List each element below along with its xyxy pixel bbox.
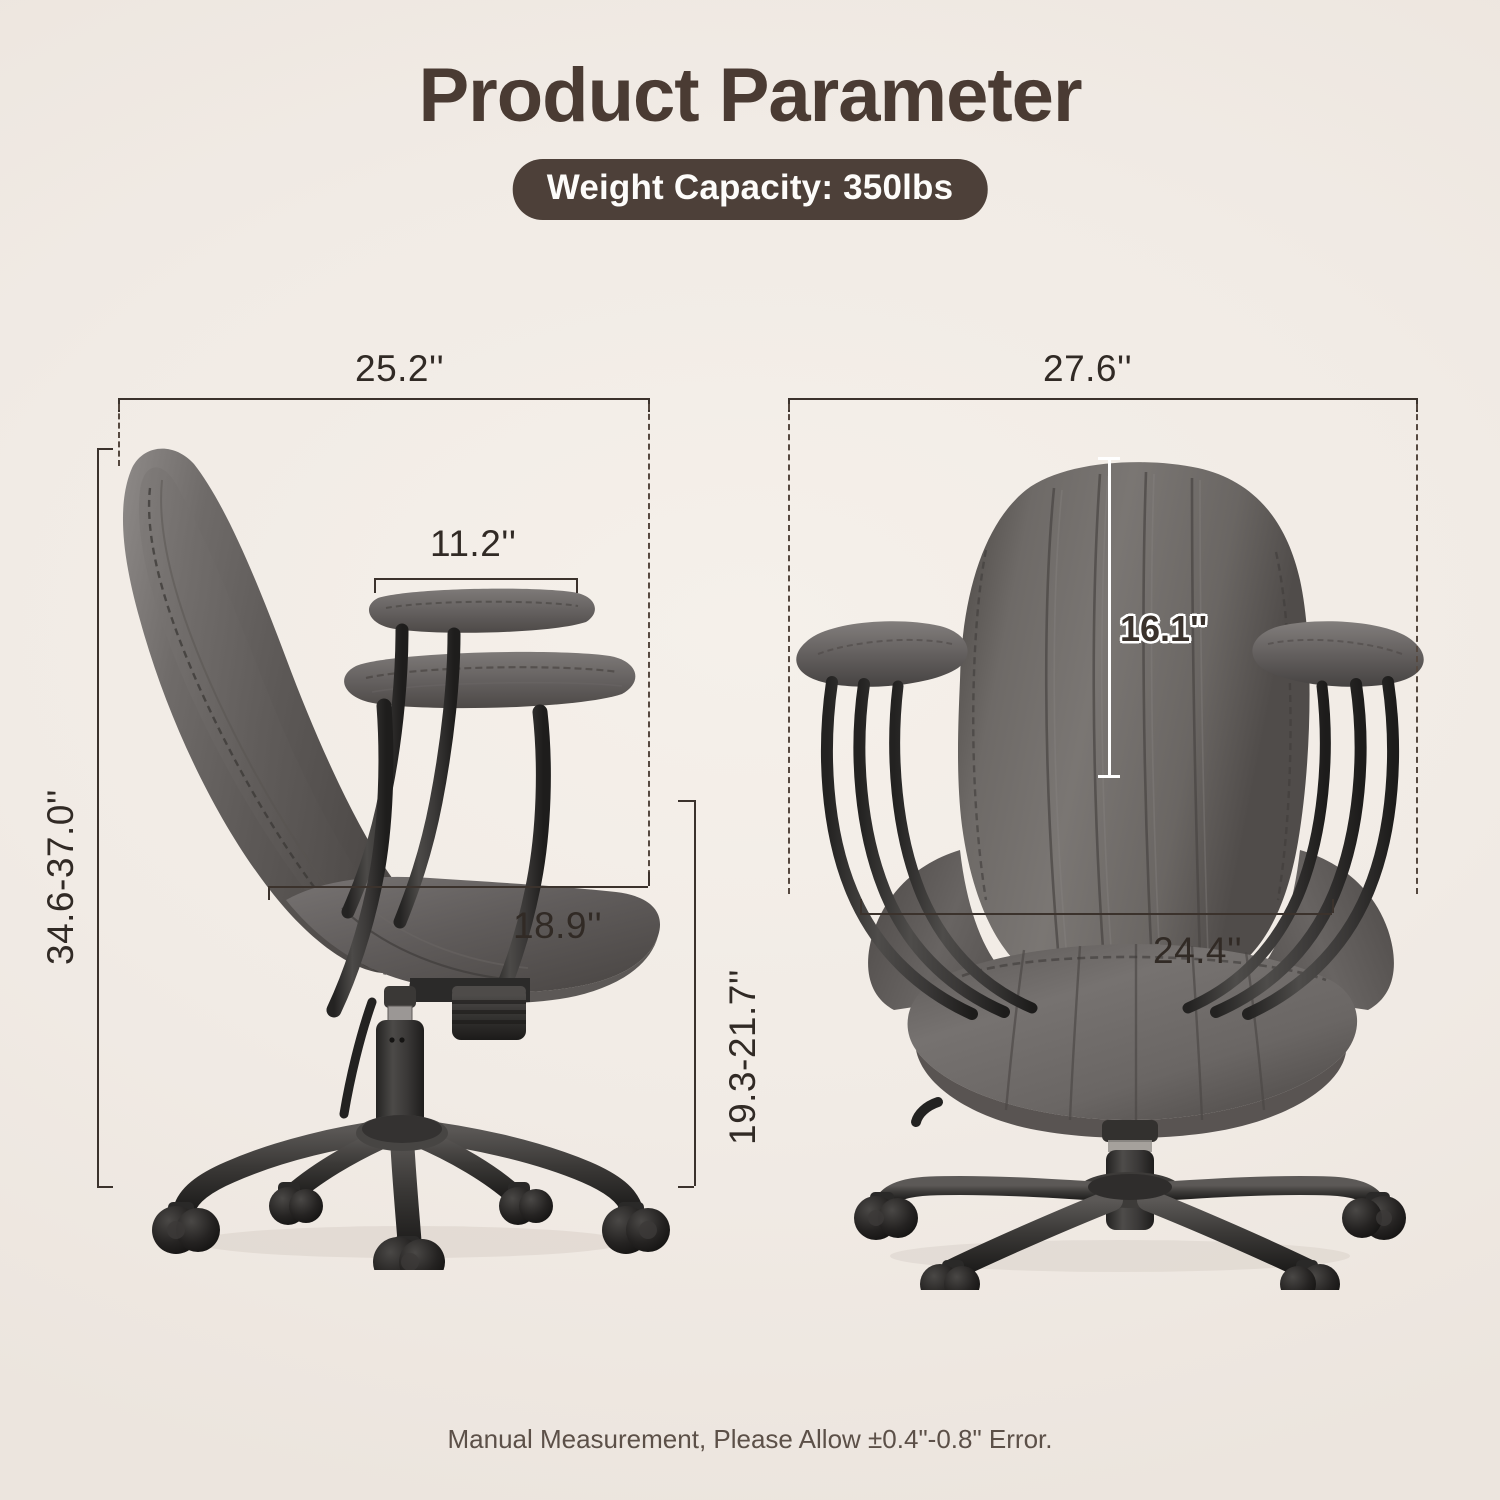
side-armrest-tick-left — [374, 578, 376, 593]
side-width-guide-right — [648, 404, 650, 886]
front-base-width-tick-right — [1332, 899, 1334, 913]
weight-capacity-badge: Weight Capacity: 350lbs — [513, 159, 988, 220]
front-width-guide-right — [1416, 404, 1418, 894]
side-overall-height-tick-bottom — [97, 1186, 113, 1188]
measurement-disclaimer: Manual Measurement, Please Allow ±0.4"-0… — [0, 1424, 1500, 1455]
side-seat-depth-tick-left — [268, 886, 270, 900]
side-view-chair-illustration — [110, 430, 730, 1270]
side-seat-height-label: 19.3-21.7'' — [722, 969, 764, 1145]
product-spec-canvas: Product Parameter Weight Capacity: 350lb… — [0, 0, 1500, 1500]
side-overall-height-line — [97, 448, 99, 1186]
front-base-width-tick-left — [860, 899, 862, 913]
side-seat-depth-label: 18.9'' — [513, 905, 602, 947]
side-armrest-line — [374, 578, 576, 580]
side-width-line — [118, 398, 648, 400]
front-back-height-label: 16.1'' — [1120, 608, 1207, 650]
side-armrest-tick-right — [576, 578, 578, 593]
side-seat-depth-tick-right — [648, 872, 650, 886]
side-overall-height-tick-top — [97, 448, 113, 450]
side-overall-height-label: 34.6-37.0'' — [40, 789, 82, 965]
side-seat-height-tick-bottom — [678, 1186, 694, 1188]
side-seat-height-line — [694, 800, 696, 1186]
front-width-label: 27.6'' — [1043, 348, 1132, 390]
page-title: Product Parameter — [0, 52, 1500, 139]
front-width-guide-left — [788, 404, 790, 894]
front-back-height-tick-bottom — [1098, 775, 1120, 778]
side-armrest-width-label: 11.2'' — [430, 523, 516, 565]
side-seat-depth-line — [268, 886, 648, 888]
front-base-width-line — [860, 913, 1332, 915]
front-back-height-line — [1108, 457, 1111, 775]
front-width-line — [788, 398, 1416, 400]
front-back-height-tick-top — [1098, 457, 1120, 460]
side-width-label: 25.2'' — [355, 348, 444, 390]
side-width-guide-left — [118, 404, 120, 466]
front-base-width-label: 24.4'' — [1153, 930, 1242, 972]
side-seat-height-tick-top — [678, 800, 694, 802]
